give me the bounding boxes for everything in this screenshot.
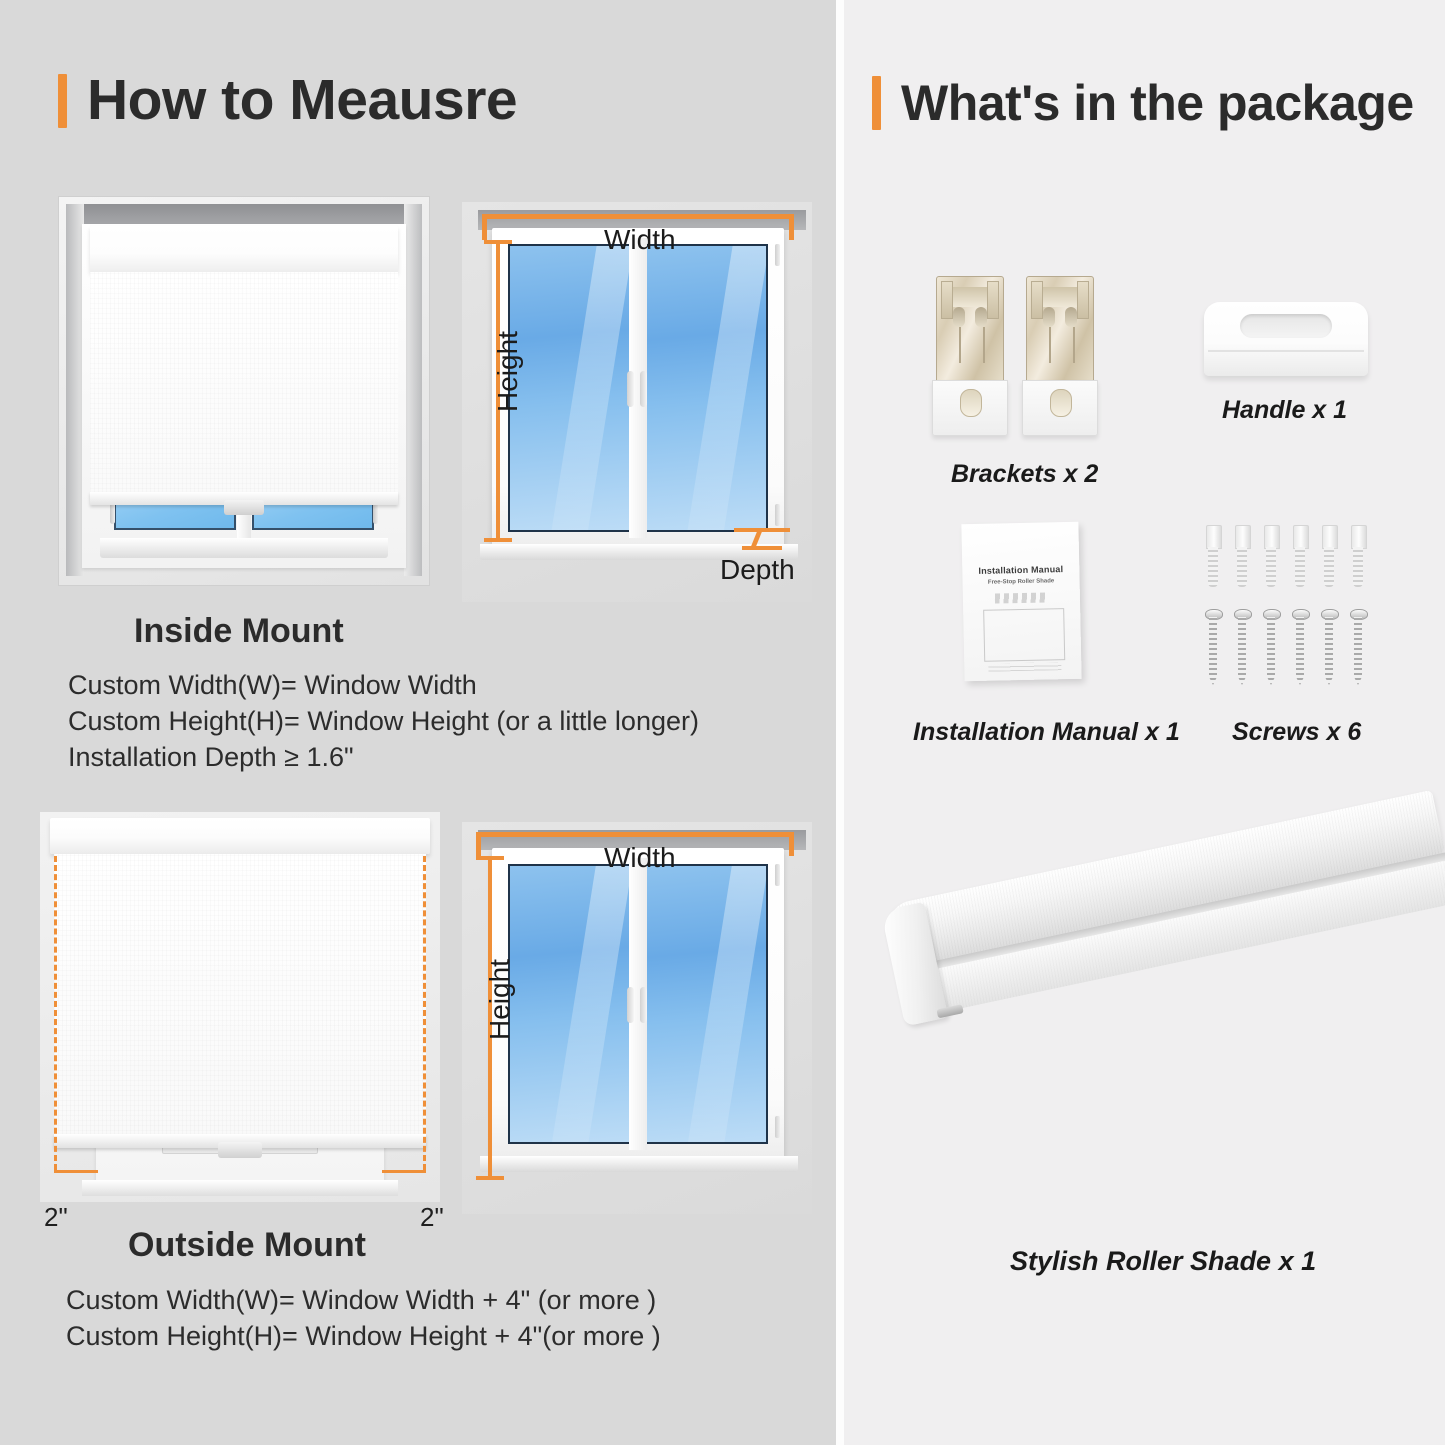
overhang-right-label: 2" [420,1202,444,1233]
how-to-measure-heading: How to Meausre [58,72,517,129]
bracket-rib [1049,327,1051,363]
screw-item [1234,609,1250,685]
diagram-pane-right [644,244,768,532]
bracket-slot-icon [975,307,987,327]
diagram-handle-left-icon [627,371,634,407]
diagram-window-sill [480,1156,798,1172]
screw-shaft [1238,617,1246,685]
anchor-body [1237,547,1247,587]
manual-cover-title: Installation Manual [962,564,1079,576]
bracket-metal-body [936,276,1004,388]
diagram-handle-right-icon [640,371,647,407]
anchor-body [1295,547,1305,587]
shade-pull-handle-icon [224,500,264,515]
wall-anchor-item [1350,525,1366,587]
height-measure-end-top [476,856,504,860]
screws-label: Screws x 6 [1232,718,1361,747]
depth-measure-base [742,546,782,550]
manual-cover-footer-lines [988,662,1061,672]
anchor-body [1208,547,1218,587]
width-measure-end-right [789,832,794,856]
bracket-item [932,272,1006,440]
screw-shaft [1354,617,1362,685]
diagram-hinge-top-icon [775,864,780,886]
bracket-tab-right [1077,281,1089,319]
anchor-head [1264,525,1280,549]
outside-mount-shade-illustration [40,812,440,1202]
outside-mount-title: Outside Mount [128,1226,366,1265]
outside-mount-line-1: Custom Width(W)= Window Width + 4" (or m… [66,1285,656,1316]
width-measure-line [482,214,794,219]
handle-grip-cutout [1240,314,1332,338]
screw-item [1205,609,1221,685]
manual-cover-scribble [995,592,1047,603]
wall-anchor-item [1205,525,1221,587]
handle-seam [1208,350,1364,352]
outside-mount-line-2: Custom Height(H)= Window Height + 4"(or … [66,1321,661,1352]
shade-fabric [90,272,398,494]
inside-mount-line-2: Custom Height(H)= Window Height (or a li… [68,706,699,737]
screw-item [1263,609,1279,685]
handle-label: Handle x 1 [1222,396,1347,425]
outside-mount-measurement-diagram: Width Height [462,822,812,1214]
bracket-mount-plate [1022,380,1098,436]
height-label: Height [484,959,516,1040]
width-label: Width [604,224,676,256]
anchor-body [1266,547,1276,587]
diagram-pane-right [644,864,768,1144]
anchor-body [1353,547,1363,587]
diagram-hinge-top-icon [775,244,780,266]
inside-mount-title: Inside Mount [134,612,344,651]
roller-shade-image [905,885,1435,1210]
screw-shaft [1296,617,1304,685]
anchor-head [1235,525,1251,549]
roller-shade-label: Stylish Roller Shade x 1 [1010,1246,1316,1277]
accent-bar-icon [58,74,67,128]
accent-bar-icon [872,76,881,130]
anchor-head [1206,525,1222,549]
wall-anchor-item [1234,525,1250,587]
handle-image [1204,302,1368,376]
width-measure-end-right [789,214,794,240]
manual-cover-subtitle: Free-Stop Roller Shade [963,578,1080,586]
height-measure-end-bottom [484,538,512,542]
screw-shaft [1267,617,1275,685]
width-measure-line [476,832,794,837]
installation-manual-label: Installation Manual x 1 [913,718,1180,747]
panel-divider [836,0,844,1445]
manual-cover-figure-box [983,608,1065,662]
screws-and-anchors-image [1205,525,1371,687]
bracket-mount-plate [932,380,1008,436]
screw-item [1350,609,1366,685]
inside-mount-line-3: Installation Depth ≥ 1.6" [68,742,354,773]
bracket-slot-icon [953,307,965,327]
screw-item [1321,609,1337,685]
depth-label: Depth [720,554,795,586]
anchor-body [1324,547,1334,587]
shade-fabric [54,854,426,1136]
window-sill [100,538,388,558]
heading-text: How to Meausre [87,72,517,129]
diagram-handle-left-icon [627,987,634,1023]
infographic-page: How to Meausre [0,0,1445,1445]
diagram-handle-right-icon [640,987,647,1023]
bracket-tab-left [1031,281,1043,319]
diagram-window-frame [492,848,784,1162]
overhang-guide-left [54,856,57,1170]
window-sill [82,1180,398,1196]
screw-shaft [1325,617,1333,685]
inside-mount-shade-illustration [58,196,430,586]
diagram-window-frame [492,228,784,550]
bracket-tab-right [987,281,999,319]
inside-mount-line-1: Custom Width(W)= Window Width [68,670,477,701]
wall-anchor-item [1263,525,1279,587]
heading-text: What's in the package [901,78,1414,128]
overhang-tick-left [54,1170,98,1173]
overhang-tick-right [382,1170,426,1173]
installation-manual-image: Installation Manual Free-Stop Roller Sha… [961,522,1081,681]
wall-anchor-item [1321,525,1337,587]
wall-anchor-item [1292,525,1308,587]
screw-shaft [1209,617,1217,685]
bracket-rib [983,327,985,363]
window-reveal-right [404,204,422,576]
diagram-pane-left [508,864,632,1144]
bracket-rib [1073,327,1075,363]
bracket-rib [959,327,961,363]
anchor-head [1293,525,1309,549]
brackets-label: Brackets x 2 [951,460,1098,489]
height-measure-end-top [484,240,512,244]
overhang-guide-right [423,856,426,1170]
screw-item [1292,609,1308,685]
whats-in-the-package-heading: What's in the package [872,76,1414,130]
width-measure-end-left [482,214,487,240]
bracket-slot-icon [1043,307,1055,327]
height-measure-end-bottom [476,1176,504,1180]
shade-cassette [90,226,398,272]
anchor-head [1322,525,1338,549]
bracket-slot-icon [1065,307,1077,327]
diagram-hinge-bottom-icon [775,504,780,526]
bracket-item [1022,272,1096,440]
brackets-image [932,272,1110,444]
shade-pull-handle-icon [218,1142,262,1158]
shade-cassette [50,818,430,854]
inside-mount-measurement-diagram: Width Height Depth [462,202,812,602]
bracket-metal-body [1026,276,1094,388]
diagram-pane-left [508,244,632,532]
diagram-hinge-bottom-icon [775,1116,780,1138]
width-measure-end-left [476,832,481,856]
anchor-head [1351,525,1367,549]
bracket-tab-left [941,281,953,319]
width-label: Width [604,842,676,874]
height-label: Height [492,331,524,412]
overhang-left-label: 2" [44,1202,68,1233]
